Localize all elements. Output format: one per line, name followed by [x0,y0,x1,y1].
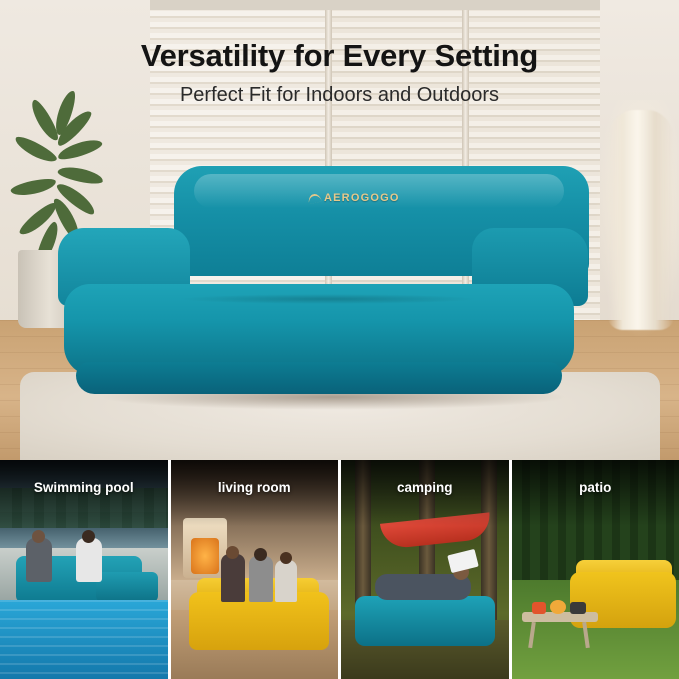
product-infographic: AEROGOGO Versatility for Every Setting P… [0,0,679,679]
living-room-person-2-head [254,548,267,561]
swoosh-icon [307,192,322,204]
living-room-person-2-body [249,556,273,602]
pool-person-right-head [82,530,95,543]
use-case-cell-patio: patio [512,460,679,679]
use-case-strip: Swimming pool living room [0,460,679,679]
sofa-seat-crease [178,294,478,304]
living-room-person-3-body [275,560,297,602]
camping-sofa [355,596,495,646]
hero-subtitle: Perfect Fit for Indoors and Outdoors [0,84,679,107]
pool-person-right-body [76,538,102,582]
table-food-item-2 [550,600,566,614]
pool-person-left-head [32,530,45,543]
fireplace-flame [191,538,219,574]
use-case-label-patio: patio [512,480,679,495]
pool-water-ripples [0,600,168,679]
use-case-cell-camping: camping [341,460,509,679]
window-frame [150,0,605,10]
living-room-person-3-head [280,552,292,564]
use-case-label-living-room: living room [171,480,339,495]
inflatable-sofa: AEROGOGO [58,166,588,416]
hero-title: Versatility for Every Setting [0,38,679,74]
sofa-base [76,362,562,394]
use-case-cell-living-room: living room [171,460,339,679]
table-food-item-1 [532,602,546,614]
pool-sofa-second [96,572,158,602]
brand-logo-text: AEROGOGO [324,192,400,204]
hero-image: AEROGOGO Versatility for Every Setting P… [0,0,679,460]
floor-lamp [608,110,674,330]
table-food-item-3 [570,602,586,614]
use-case-label-camping: camping [341,480,509,495]
use-case-label-swimming-pool: Swimming pool [0,480,168,495]
living-room-person-1-body [221,554,245,602]
use-case-cell-swimming-pool: Swimming pool [0,460,168,679]
living-room-person-1-head [226,546,239,559]
pool-person-left-body [26,538,52,582]
brand-logo: AEROGOGO [308,192,400,204]
